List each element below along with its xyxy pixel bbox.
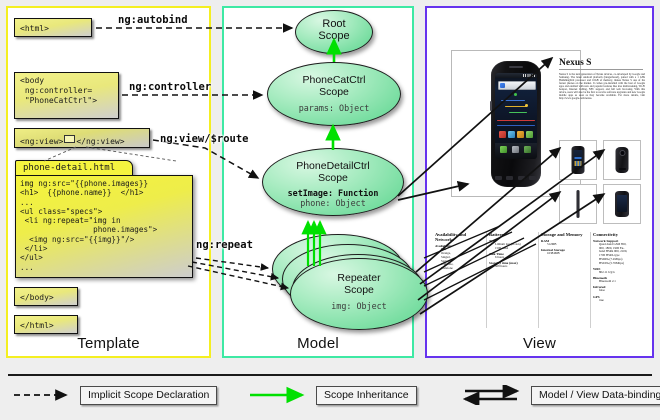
scope-phonedetailctrl-prop-phone: phone: Object — [263, 199, 403, 209]
edge-label-view-route: ng:view/$route — [160, 133, 249, 145]
back-key — [495, 176, 502, 180]
product-description: Nexus S is the next generation of Nexus … — [559, 73, 645, 100]
screen-glyph — [617, 195, 627, 212]
camera-icon — [619, 150, 625, 156]
specs-column-availability: Availability and Networks Availability M… — [435, 232, 483, 271]
legend-label: Model / View Data-binding — [531, 386, 660, 405]
phone-back-glyph — [616, 147, 629, 173]
wallpaper-line — [497, 125, 535, 126]
ng-view-open-tag: <ng:view> — [20, 137, 63, 146]
wallpaper-line — [497, 120, 535, 121]
specs-value: true — [593, 299, 645, 303]
scope-root-title-1: Root — [296, 19, 372, 31]
code-box-html-open: <html> — [14, 18, 92, 37]
specs-value: 512MB — [541, 243, 593, 247]
legend-divider — [8, 374, 652, 376]
scope-repeater-title-1: Repeater — [291, 273, 427, 285]
view-rendered-page: Nexus S Nexus S is the next generation o… — [429, 10, 650, 330]
home-key — [529, 176, 536, 180]
wallpaper-line — [505, 106, 527, 107]
dashed-arrow-icon — [12, 385, 74, 405]
note-code: img ng:src="{{phone.images}} <h1> {{phon… — [15, 175, 193, 278]
green-arrow-icon — [248, 385, 310, 405]
legend-item-implicit-scope-declaration: Implicit Scope Declaration — [12, 384, 217, 406]
scope-root-title-2: Scope — [296, 31, 372, 43]
code-box-html-close: </html> — [14, 315, 78, 334]
app-icon — [508, 131, 515, 138]
dock-icon-phone — [500, 146, 507, 153]
specs-value: false — [593, 289, 645, 293]
specs-value: Vodafone — [435, 267, 483, 271]
soft-key-row — [495, 176, 537, 184]
scope-phonecatctrl-prop-params: params: Object — [268, 104, 400, 114]
thumbnail-side-profile-view[interactable] — [559, 184, 597, 224]
specs-table: Availability and Networks Availability M… — [433, 232, 647, 330]
wallpaper-dot — [514, 93, 517, 96]
screen-line — [575, 157, 582, 159]
dock-icon-browser — [524, 146, 531, 153]
scope-phonedetailctrl-title-1: PhoneDetailCtrl — [263, 161, 403, 173]
search-key — [518, 176, 525, 180]
specs-heading: Availability and Networks — [435, 232, 483, 243]
specs-value: 428 hours — [489, 265, 537, 269]
legend-label: Implicit Scope Declaration — [80, 386, 217, 405]
earpiece — [509, 66, 523, 68]
code-box-body-close: </body> — [14, 287, 78, 306]
product-title-block: Nexus S — [559, 58, 645, 70]
legend-item-model-view-data-binding: Model / View Data-binding — [463, 384, 660, 406]
screen-glyph — [574, 150, 583, 168]
handset-screen — [495, 73, 537, 159]
screen-apps — [575, 161, 582, 166]
specs-value: 802.11 b/g/n — [593, 271, 645, 275]
specs-value: Bluetooth 2.1 — [593, 280, 645, 284]
search-widget — [498, 81, 536, 90]
specs-column-storage: Storage and Memory RAM 512MB Internal St… — [541, 232, 593, 256]
specs-heading: Connectivity — [593, 232, 645, 237]
speaker-glyph — [619, 168, 626, 170]
menu-key — [506, 176, 513, 180]
scope-repeater: Repeater Scope img: Object — [290, 258, 428, 330]
specs-divider — [486, 232, 487, 328]
specs-heading: Storage and Memory — [541, 232, 593, 237]
diagram-canvas: Template Model View <html> <body ng:cont… — [0, 0, 660, 420]
thumbnail-front-view[interactable] — [559, 140, 597, 180]
specs-column-battery: Battery Type Lithium Ion (Li-Ion) 1500 m… — [489, 232, 537, 269]
scope-root: Root Scope — [295, 10, 373, 54]
wallpaper-line — [509, 112, 527, 113]
scope-repeater-title-2: Scope — [291, 285, 427, 297]
scope-phonecatctrl-title-2: Scope — [268, 87, 400, 99]
legend-label: Scope Inheritance — [316, 386, 417, 405]
dock — [495, 143, 537, 159]
template-note-phone-detail: phone-detail.html img ng:src="{{phone.im… — [15, 160, 193, 278]
dock-icon-apps — [512, 146, 519, 153]
scope-repeater-prop-img: img: Object — [291, 302, 427, 312]
legend-item-scope-inheritance: Scope Inheritance — [248, 384, 417, 406]
volume-button — [490, 101, 492, 111]
scope-phonedetailctrl: PhoneDetailCtrl Scope setImage: Function… — [262, 148, 404, 216]
signal-icon — [523, 74, 535, 77]
search-icon — [500, 83, 505, 88]
product-title: Nexus S — [559, 58, 645, 68]
specs-column-connectivity: Connectivity Network Support Quad-band G… — [593, 232, 645, 302]
title-divider — [559, 69, 643, 70]
phone-front-glyph — [572, 146, 585, 174]
wallpaper-line — [501, 100, 525, 101]
wallpaper-dot — [525, 104, 528, 107]
code-box-ng-view: <ng:view></ng:view> — [14, 128, 150, 148]
note-filename: phone-detail.html — [16, 161, 132, 175]
edge-label-repeat: ng:repeat — [196, 239, 253, 251]
ng-view-close-tag: </ng:view> — [76, 137, 124, 146]
specs-divider — [538, 232, 539, 328]
scope-phonecatctrl-title-1: PhoneCatCtrl — [268, 75, 400, 87]
app-icon — [526, 131, 533, 138]
specs-heading: Battery — [489, 232, 537, 237]
thumbnail-back-view[interactable] — [603, 140, 641, 180]
status-bar — [495, 73, 537, 78]
view-slot-icon — [64, 135, 75, 143]
specs-value: 1500 mAh — [489, 247, 537, 251]
edge-label-controller: ng:controller — [129, 81, 211, 93]
note-tab: phone-detail.html — [15, 160, 133, 176]
code-box-body-open: <body ng:controller= "PhoneCatCtrl"> — [14, 72, 119, 119]
phone-angled-glyph — [615, 191, 629, 217]
scope-phonedetailctrl-title-2: Scope — [263, 173, 403, 185]
edge-label-autobind: ng:autobind — [118, 14, 188, 26]
thumbnail-angled-view[interactable] — [603, 184, 641, 224]
app-icon — [499, 131, 506, 138]
scope-phonecatctrl: PhoneCatCtrl Scope params: Object — [267, 62, 401, 126]
legend: Implicit Scope Declaration Scope Inherit… — [8, 384, 652, 412]
specs-value: 6 hours — [489, 256, 537, 260]
specs-value: HSUPA (5.76Mbps) — [593, 262, 645, 266]
double-arrow-icon — [463, 385, 525, 405]
app-icon — [517, 131, 524, 138]
nexus-s-handset-illustration — [491, 61, 541, 187]
specs-value: 16384MB — [541, 252, 593, 256]
phone-side-glyph — [577, 190, 580, 218]
